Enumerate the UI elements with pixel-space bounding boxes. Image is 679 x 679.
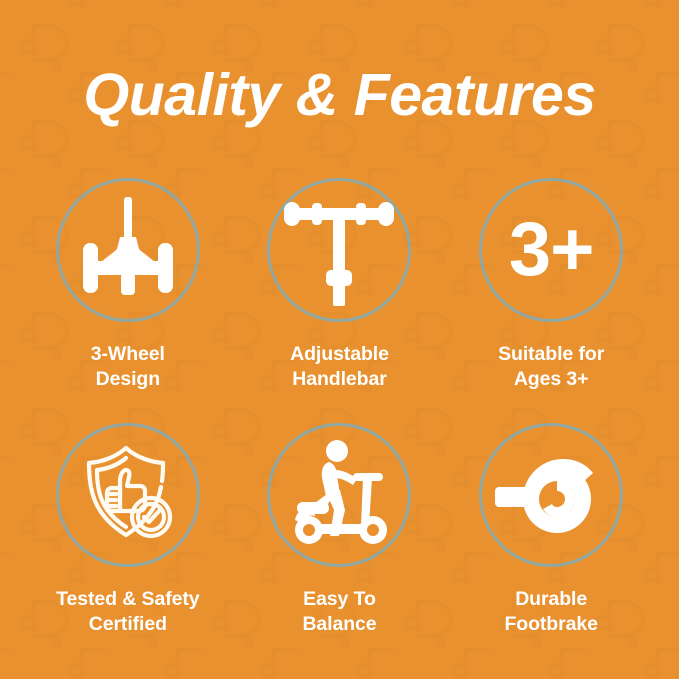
feature-item-three-wheel-design: 3-Wheel Design xyxy=(22,178,234,423)
icon-ring: 3+ xyxy=(479,178,623,322)
feature-label: Easy To Balance xyxy=(302,587,376,637)
feature-item-tested-safety-certified: Tested & Safety Certified xyxy=(22,423,234,668)
age-3-plus-icon: 3+ xyxy=(509,212,594,288)
feature-item-age-suitability: 3+ Suitable for Ages 3+ xyxy=(445,178,657,423)
feature-item-durable-footbrake: Durable Footbrake xyxy=(445,423,657,668)
page-title: Quality & Features xyxy=(0,62,679,128)
icon-ring xyxy=(479,423,623,567)
feature-grid: 3-Wheel Design xyxy=(22,178,657,668)
icon-ring xyxy=(267,178,411,322)
feature-label: Suitable for Ages 3+ xyxy=(498,342,604,392)
feature-item-easy-to-balance: Easy To Balance xyxy=(234,423,446,668)
feature-label: 3-Wheel Design xyxy=(91,342,165,392)
feature-item-adjustable-handlebar: Adjustable Handlebar xyxy=(234,178,446,423)
three-wheel-scooter-icon xyxy=(73,195,183,305)
quality-and-features-infographic: Quality & Features xyxy=(0,0,679,679)
icon-ring xyxy=(267,423,411,567)
adjustable-handlebar-icon xyxy=(280,194,398,306)
icon-ring xyxy=(56,423,200,567)
feature-label: Durable Footbrake xyxy=(504,587,597,637)
feature-label: Tested & Safety Certified xyxy=(56,587,199,637)
icon-ring xyxy=(56,178,200,322)
shield-thumbs-up-check-icon xyxy=(76,443,180,547)
feature-label: Adjustable Handlebar xyxy=(290,342,389,392)
rear-wheel-footbrake-icon xyxy=(495,445,607,545)
person-riding-scooter-icon xyxy=(281,440,397,550)
